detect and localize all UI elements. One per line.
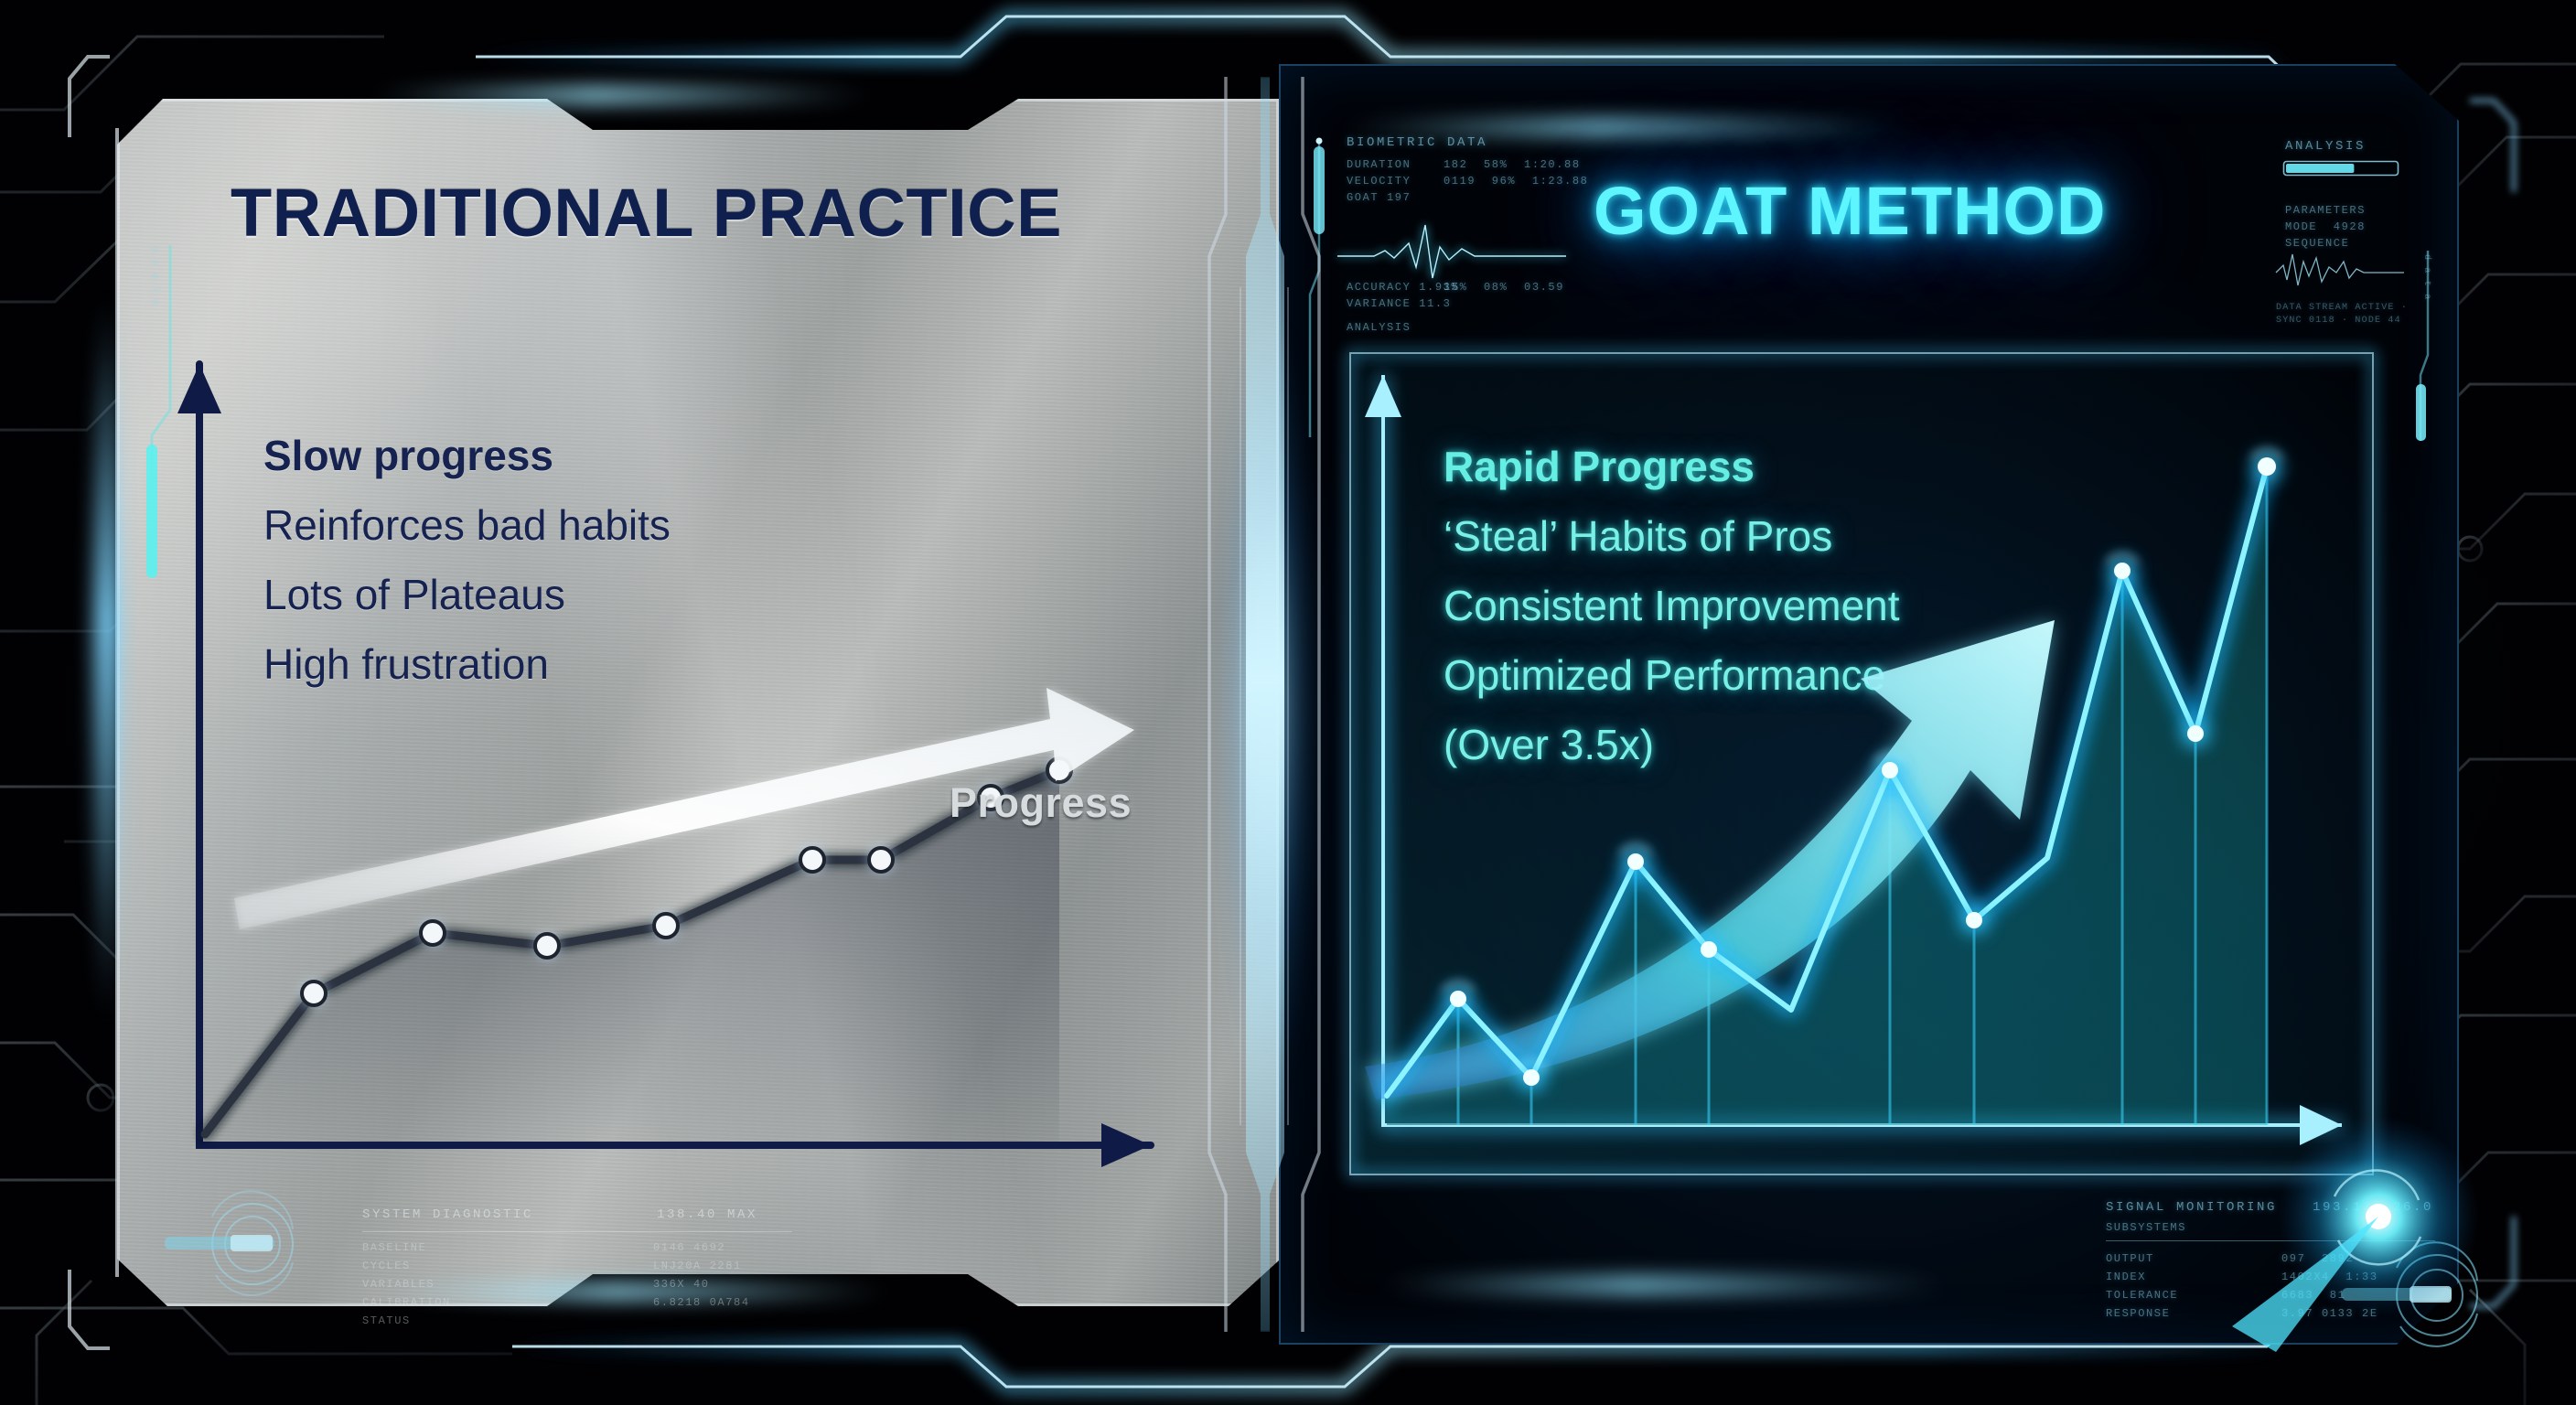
- right-hud-signal-row-1-key: INDEX: [2106, 1270, 2146, 1285]
- left-hud-row-0-key: BASELINE: [362, 1240, 426, 1256]
- right-hud-biometric-heading: BIOMETRIC DATA: [1347, 135, 1487, 151]
- left-chart-progress-label: Progress: [950, 779, 1132, 827]
- left-hud-row-0-value: 0146 4692: [653, 1240, 725, 1256]
- left-hud-divider: [362, 1231, 792, 1232]
- right-hud-biometric-row-4-value: 15% 08% 03.59: [1444, 280, 1564, 295]
- center-seam-outline: [1206, 77, 1325, 1332]
- goat-method-chart: [1352, 357, 2377, 1180]
- left-hud-row-2-value: 336X 40: [653, 1277, 710, 1292]
- right-hud-biometric-row-0-value: 182 58% 1:20.88: [1444, 157, 1581, 173]
- left-hud-row-1-value: LNJ20A 2281: [653, 1259, 742, 1274]
- right-hud-biometric-row-3-key: GOAT 197: [1347, 190, 1411, 206]
- right-hud-analysis-label: PARAMETERS: [2285, 203, 2366, 219]
- right-hud-signal-row-3-key: RESPONSE: [2106, 1306, 2170, 1322]
- left-hud-row-2-key: VARIABLES: [362, 1277, 435, 1292]
- right-hud-biometric-row-1-value: 0119 96% 1:23.88: [1444, 174, 1588, 189]
- right-hud-analysis-sub1: MODE 4928: [2285, 220, 2366, 235]
- panel-left-edge-glow: [95, 293, 119, 1024]
- right-hud-data-ticks: d a t a: [2419, 254, 2434, 300]
- left-hud-row-4-key: STATUS: [362, 1314, 411, 1329]
- panel-right-top-glow: [1336, 119, 1921, 135]
- right-panel-title: GOAT METHOD: [1594, 172, 2106, 250]
- panel-right-bottom-glow: [1372, 1277, 1958, 1293]
- right-hud-signal-row-2-key: TOLERANCE: [2106, 1288, 2178, 1303]
- right-hud-analysis-note: DATA STREAM ACTIVE · SYNC 0118 · NODE 44: [2276, 302, 2431, 327]
- left-hud-heading: SYSTEM DIAGNOSTIC: [362, 1207, 533, 1223]
- right-hud-progress-bar: [2283, 161, 2399, 176]
- right-hud-ecg-waveform: [1337, 220, 1566, 284]
- right-hud-analysis-waveform: [2276, 245, 2404, 296]
- right-hud-biometric-row-2-key: VELOCITY: [1347, 174, 1411, 189]
- left-hud-target-icon: [165, 1189, 338, 1299]
- infographic-canvas: TRADITIONAL PRACTICE Slow progress Reinf…: [0, 0, 2576, 1405]
- left-hud-row-3-key: CALIBRATION: [362, 1295, 451, 1311]
- right-chart-area: [1387, 467, 2267, 1125]
- right-hud-biometric-row-6-key: ANALYSIS: [1347, 320, 1411, 336]
- left-hud-reading: 138.40 MAX: [657, 1207, 757, 1223]
- right-hud-biometric-row-5-key: VARIANCE 11.3: [1347, 296, 1451, 312]
- right-hud-biometric-row-4-key: ACCURACY 1.93%: [1347, 280, 1459, 295]
- left-hud-scale-indicator: [137, 240, 192, 587]
- right-edge-glow-node: [2223, 1079, 2497, 1354]
- right-hud-analysis-heading: ANALYSIS: [2285, 139, 2366, 155]
- panel-left-bottom-glow: [384, 1284, 896, 1299]
- left-hud-scale-ticks: s c a l e: [146, 247, 162, 306]
- right-hud-signal-subheading: SUBSYSTEMS: [2106, 1220, 2186, 1236]
- left-panel-title: TRADITIONAL PRACTICE: [231, 174, 1062, 252]
- panel-left-top-glow: [366, 88, 878, 102]
- left-hud-row-1-key: CYCLES: [362, 1259, 411, 1274]
- right-hud-biometric-row-0-key: DURATION: [1347, 157, 1411, 173]
- right-hud-signal-row-0-key: OUTPUT: [2106, 1251, 2154, 1267]
- left-hud-row-3-value: 6.8218 0A784: [653, 1295, 750, 1311]
